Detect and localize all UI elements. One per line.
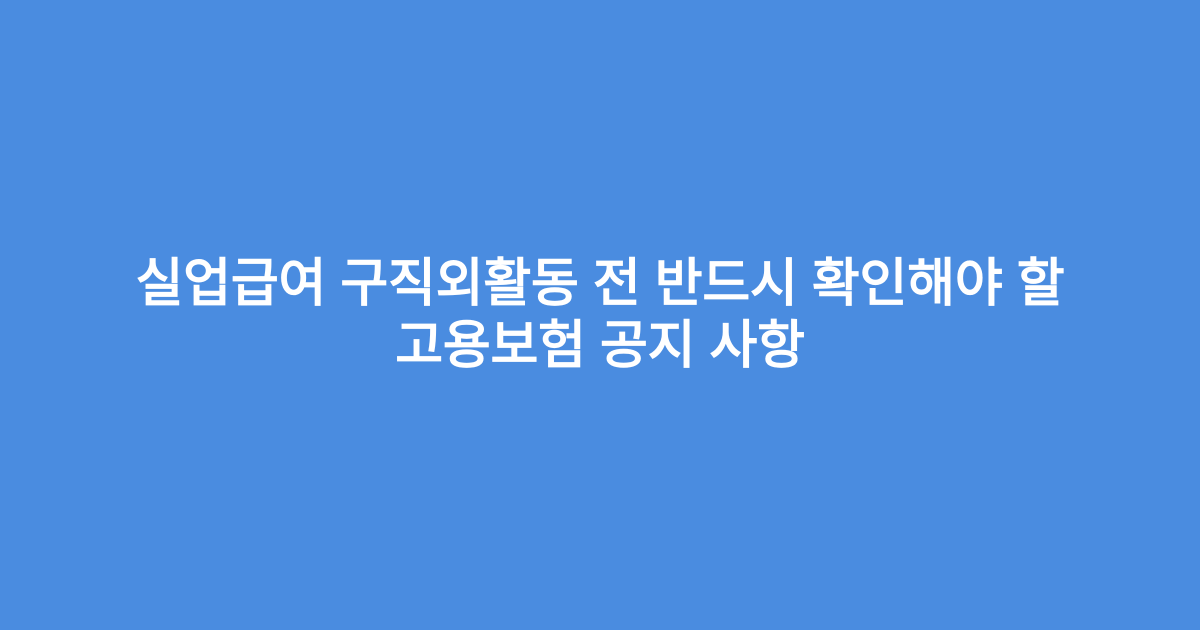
title-line-1: 실업급여 구직외활동 전 반드시 확인해야 할 [115,253,1085,315]
page-title: 실업급여 구직외활동 전 반드시 확인해야 할 고용보험 공지 사항 [95,253,1105,377]
title-line-2: 고용보험 공지 사항 [115,315,1085,377]
thumbnail-card: 실업급여 구직외활동 전 반드시 확인해야 할 고용보험 공지 사항 [0,0,1200,630]
